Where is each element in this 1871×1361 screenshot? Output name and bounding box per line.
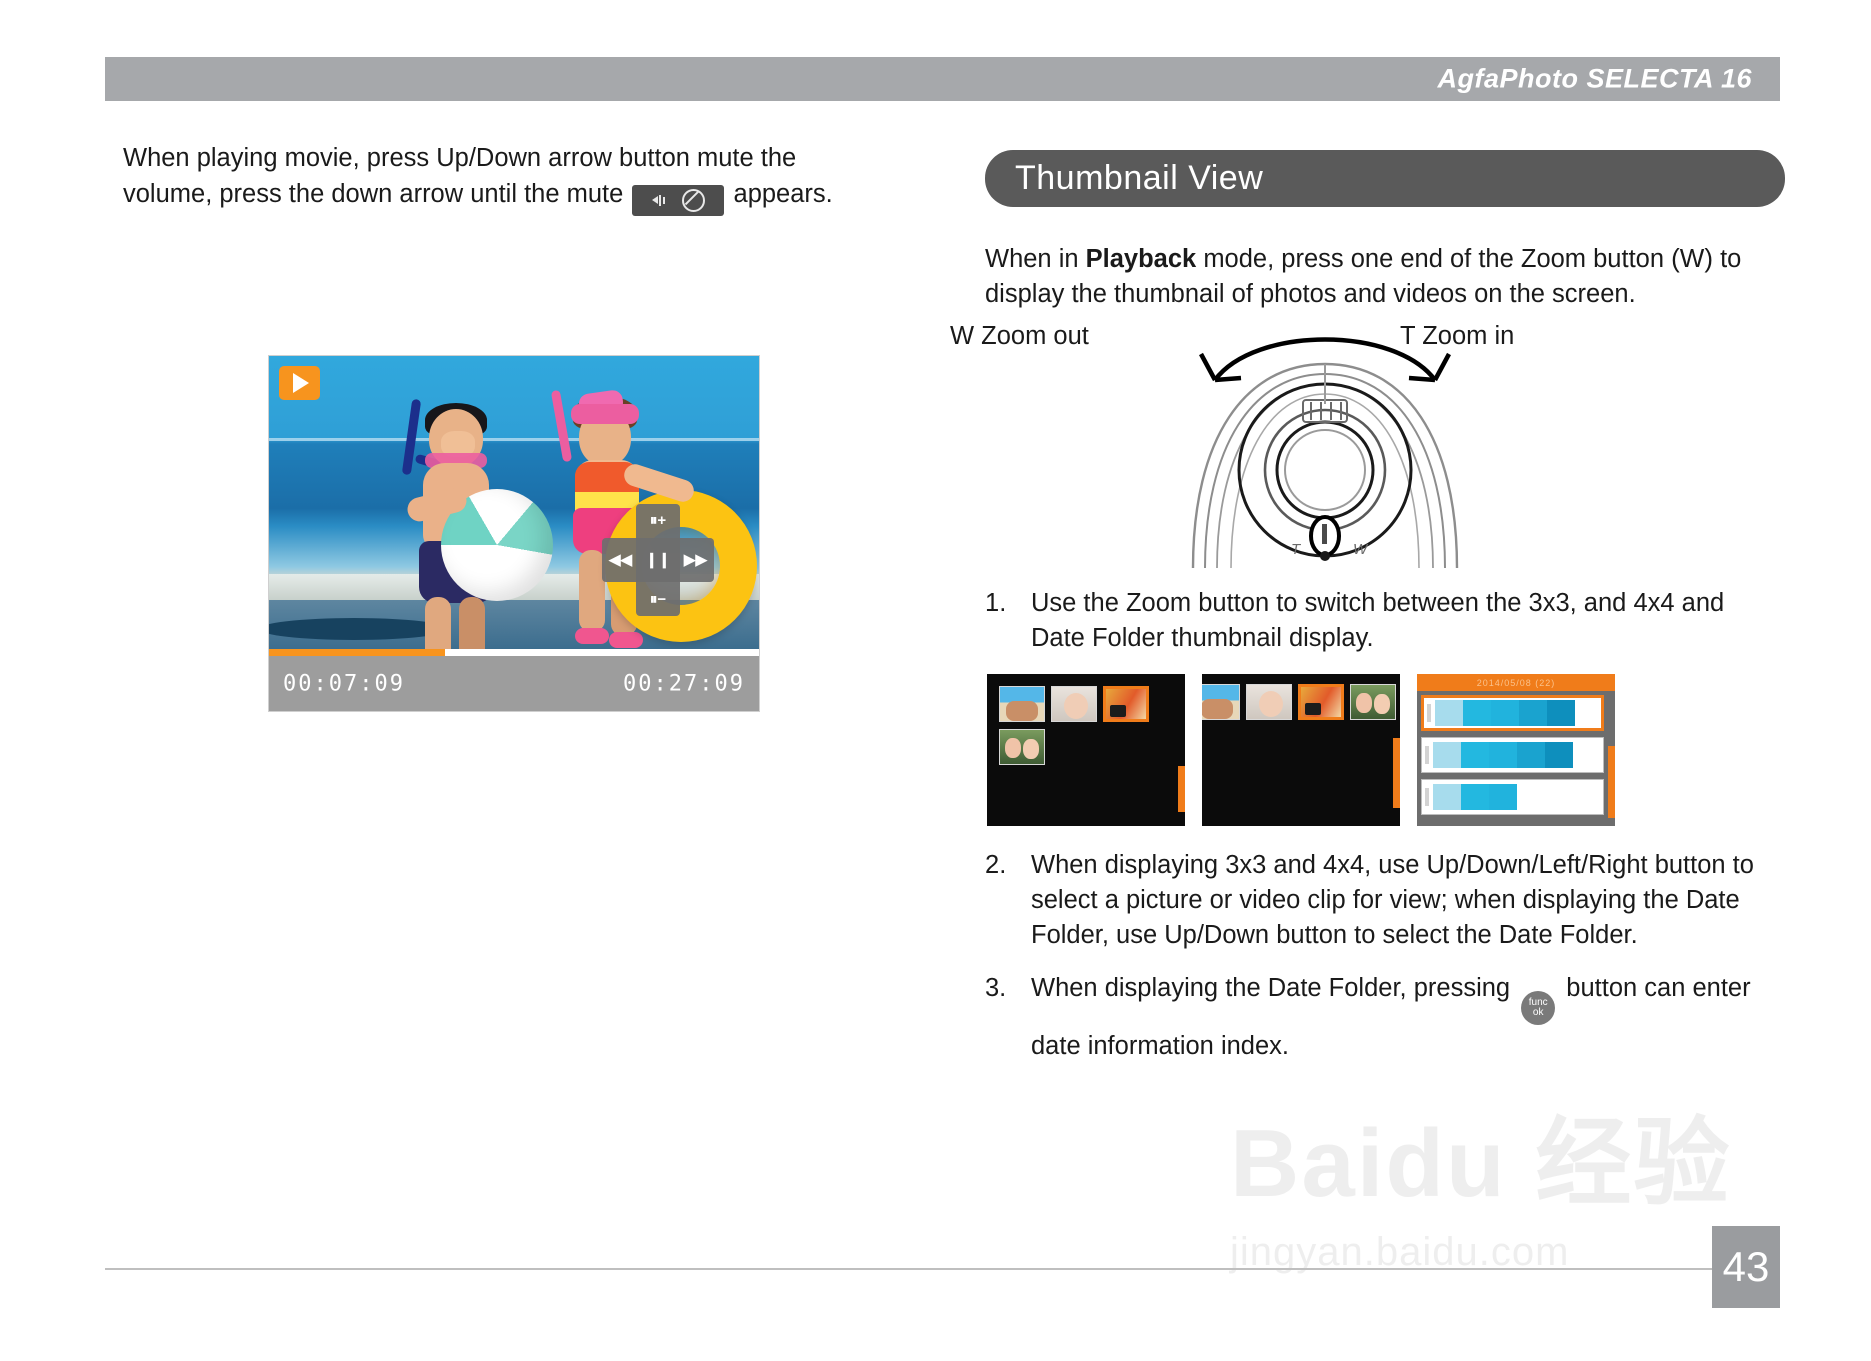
thumbnail-item [999, 729, 1045, 765]
mute-indicator-badge [632, 185, 724, 216]
thumbnail-item-selected [1103, 686, 1149, 722]
playback-intro-paragraph: When in Playback mode, press one end of … [985, 241, 1785, 312]
no-sign-icon [682, 189, 705, 212]
date-folder-row[interactable] [1421, 779, 1604, 815]
boy-figure [389, 401, 524, 641]
volume-down-icon: ⏸− [650, 592, 666, 607]
watermark-line1: Baidu 经验 [1230, 1085, 1700, 1224]
scrollbar-thumb[interactable] [1178, 766, 1185, 812]
page-header-bar: AgfaPhoto SELECTA 16 [105, 57, 1780, 101]
brand-title: AgfaPhoto SELECTA 16 [1437, 64, 1752, 95]
video-frame-image: ⏸+ ⏸− ◀◀ ▶▶ ❙❙ [269, 356, 759, 649]
thumbnail-item-selected [1298, 684, 1344, 720]
lever-mark-w: W [1353, 541, 1369, 558]
scrollbar-thumb[interactable] [1608, 746, 1615, 818]
date-folder-title-bar: 2014/05/08 (22) [1417, 674, 1615, 691]
date-folder-row[interactable] [1421, 737, 1604, 773]
lever-mark-t: T [1291, 541, 1302, 558]
pause-icon: ❙❙ [645, 553, 670, 568]
zoom-lever-figure: W Zoom out T Zoom in [985, 318, 1785, 578]
footer-divider [105, 1268, 1780, 1270]
thumbnail-screens-row: 2014/05/08 (22) [987, 674, 1785, 826]
left-column: When playing movie, press Up/Down arrow … [123, 140, 883, 216]
step-item-3: 3. When displaying the Date Folder, pres… [985, 967, 1785, 1067]
fast-forward-icon: ▶▶ [684, 553, 707, 568]
elapsed-time: 00:07:09 [283, 671, 405, 696]
manual-page: AgfaPhoto SELECTA 16 When playing movie,… [0, 0, 1871, 1361]
instruction-steps: Use the Zoom button to switch between th… [985, 586, 1785, 656]
page-number: 43 [1723, 1243, 1770, 1291]
section-banner: Thumbnail View [985, 150, 1785, 207]
volume-up-icon: ⏸+ [650, 513, 666, 528]
playback-progress-fill [269, 649, 445, 656]
thumbnail-item [1202, 684, 1240, 720]
thumbnail-item [999, 686, 1045, 722]
video-playback-screenshot: ⏸+ ⏸− ◀◀ ▶▶ ❙❙ 00:07:09 00:27:09 [268, 355, 760, 712]
play-icon [293, 373, 309, 393]
func-ok-button-icon: func ok [1521, 991, 1555, 1025]
step-item-2: When displaying 3x3 and 4x4, use Up/Down… [985, 848, 1785, 953]
step-3-text-before: When displaying the Date Folder, pressin… [1031, 974, 1510, 1002]
thumb-row-second [999, 729, 1045, 765]
screen-3x3-thumbnail [987, 674, 1185, 826]
right-column: Thumbnail View When in Playback mode, pr… [985, 150, 1785, 1067]
step-3-number: 3. [985, 967, 1006, 1009]
speaker-icon [652, 192, 668, 208]
date-folder-title-text: 2014/05/08 (22) [1477, 678, 1556, 688]
intro-text-2: mode, press one end of the Zoom button [1196, 245, 1671, 273]
play-badge [279, 366, 320, 400]
screen-date-folder: 2014/05/08 (22) [1417, 674, 1615, 826]
page-number-box: 43 [1712, 1226, 1780, 1308]
step-item-1: Use the Zoom button to switch between th… [985, 586, 1785, 656]
playback-time-bar: 00:07:09 00:27:09 [269, 656, 759, 711]
thumb-row-top [999, 686, 1149, 722]
date-folder-row-selected[interactable] [1421, 695, 1604, 731]
thumb-row-top [1202, 684, 1396, 720]
date-folder-rows [1421, 695, 1604, 815]
thumbnail-item [1051, 686, 1097, 722]
baidu-watermark: Baidu 经验 jingyan.baidu.com [1230, 1085, 1700, 1325]
screen-4x4-thumbnail [1202, 674, 1400, 826]
rewind-icon: ◀◀ [609, 553, 632, 568]
mute-instruction-text-2: appears. [734, 180, 833, 208]
thumbnail-item [1246, 684, 1292, 720]
func-chip-line2: ok [1533, 1008, 1544, 1018]
camera-zoom-lever-illustration: T W [1175, 318, 1475, 568]
mute-instruction-paragraph: When playing movie, press Up/Down arrow … [123, 140, 883, 216]
w-key-label: (W) [1671, 243, 1713, 273]
total-time: 00:27:09 [623, 671, 745, 696]
scrollbar-thumb[interactable] [1393, 738, 1400, 808]
dpad-overlay: ⏸+ ⏸− ◀◀ ▶▶ ❙❙ [602, 504, 714, 616]
playback-progress-track [269, 649, 759, 656]
instruction-steps-continued: When displaying 3x3 and 4x4, use Up/Down… [985, 848, 1785, 953]
intro-text-1: When in [985, 245, 1086, 273]
zoom-out-label: W Zoom out [950, 322, 1089, 351]
section-title: Thumbnail View [1015, 159, 1263, 198]
playback-bold-word: Playback [1086, 245, 1197, 273]
thumbnail-item [1350, 684, 1396, 720]
